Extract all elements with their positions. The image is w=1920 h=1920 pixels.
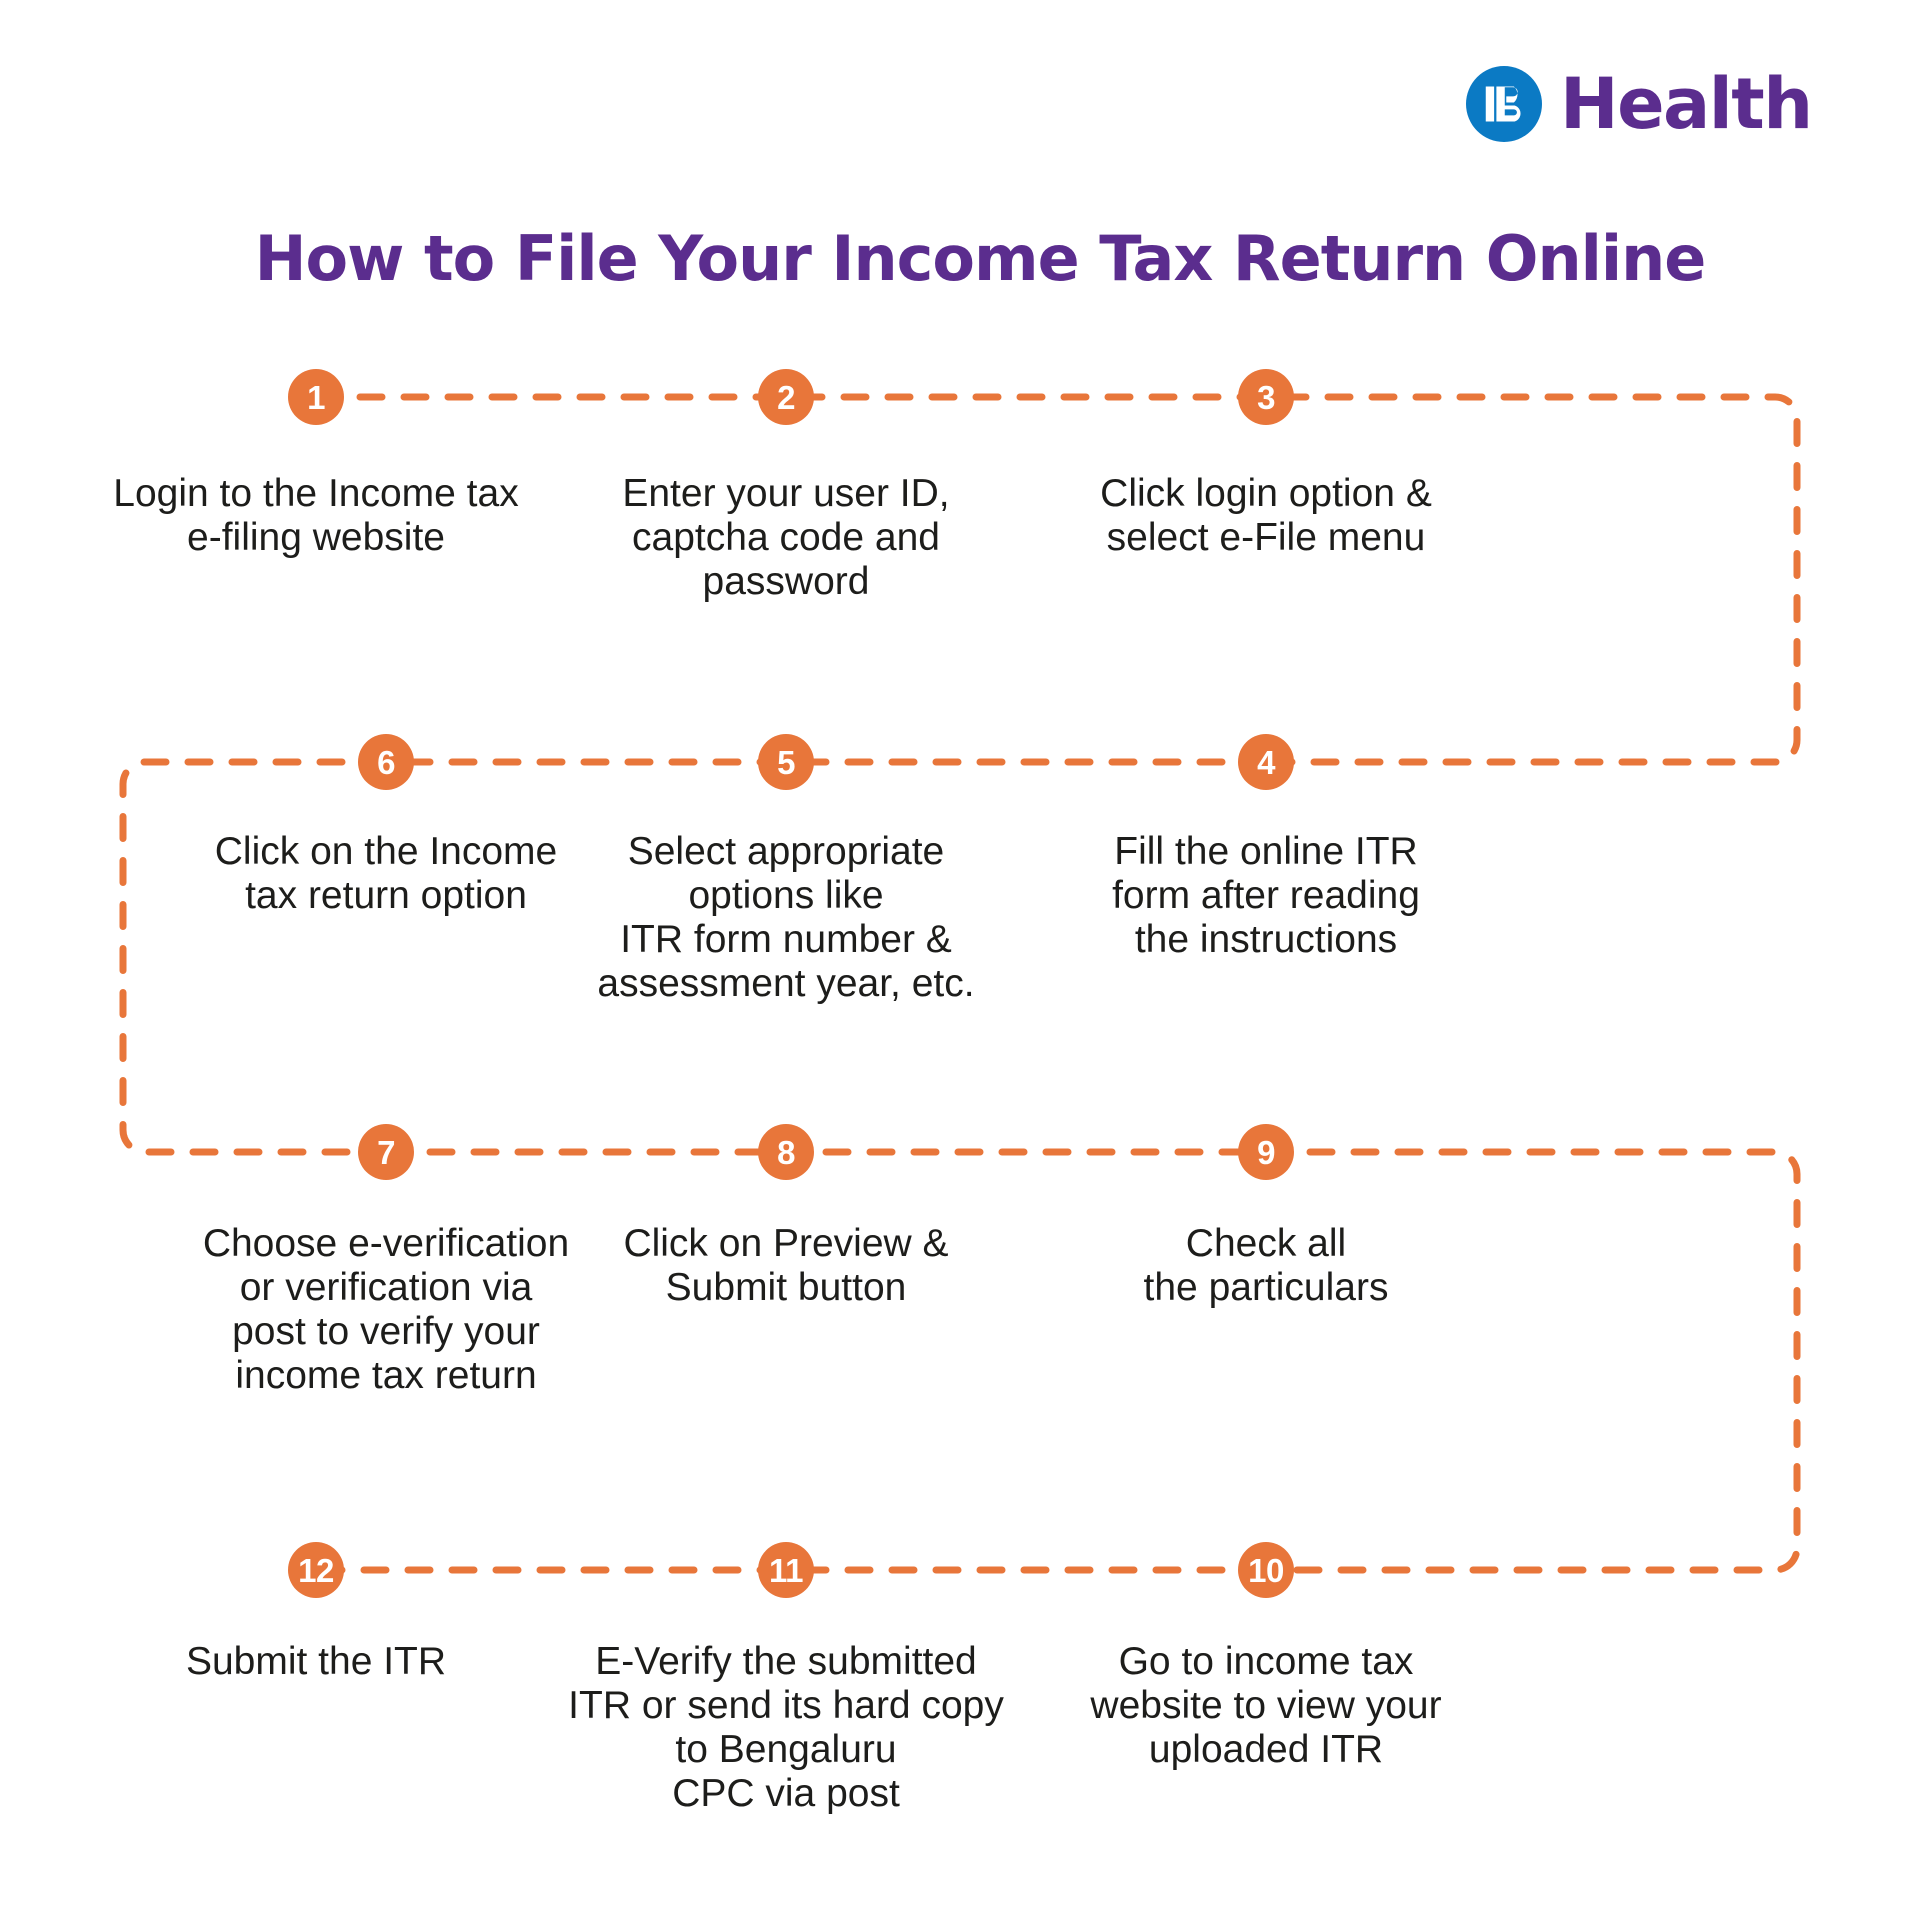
step-badge-6[interactable]: 6: [358, 734, 414, 790]
brand-logo: Health: [1466, 66, 1812, 142]
step-text-10: Go to income tax website to view your up…: [1031, 1640, 1501, 1772]
brand-name: Health: [1560, 69, 1812, 139]
bajaj-b-logo-icon: [1466, 66, 1542, 142]
step-text-11: E-Verify the submitted ITR or send its h…: [521, 1640, 1051, 1816]
step-badge-4[interactable]: 4: [1238, 734, 1294, 790]
step-text-1: Login to the Income tax e-filing website: [56, 472, 576, 560]
step-badge-5[interactable]: 5: [758, 734, 814, 790]
step-text-6: Click on the Income tax return option: [146, 830, 626, 918]
step-text-2: Enter your user ID, captcha code and pas…: [551, 472, 1021, 604]
infographic-canvas: Health How to File Your Income Tax Retur…: [0, 0, 1920, 1920]
step-text-9: Check all the particulars: [1031, 1222, 1501, 1310]
step-text-12: Submit the ITR: [81, 1640, 551, 1684]
step-badge-7[interactable]: 7: [358, 1124, 414, 1180]
step-text-3: Click login option & select e-File menu: [1031, 472, 1501, 560]
step-badge-8[interactable]: 8: [758, 1124, 814, 1180]
step-text-8: Click on Preview & Submit button: [551, 1222, 1021, 1310]
step-badge-1[interactable]: 1: [288, 369, 344, 425]
step-badge-2[interactable]: 2: [758, 369, 814, 425]
step-badge-11[interactable]: 11: [758, 1542, 814, 1598]
step-badge-10[interactable]: 10: [1238, 1542, 1294, 1598]
page-title: How to File Your Income Tax Return Onlin…: [0, 222, 1920, 295]
step-badge-9[interactable]: 9: [1238, 1124, 1294, 1180]
step-badge-12[interactable]: 12: [288, 1542, 344, 1598]
step-badge-3[interactable]: 3: [1238, 369, 1294, 425]
step-text-4: Fill the online ITR form after reading t…: [1046, 830, 1486, 962]
